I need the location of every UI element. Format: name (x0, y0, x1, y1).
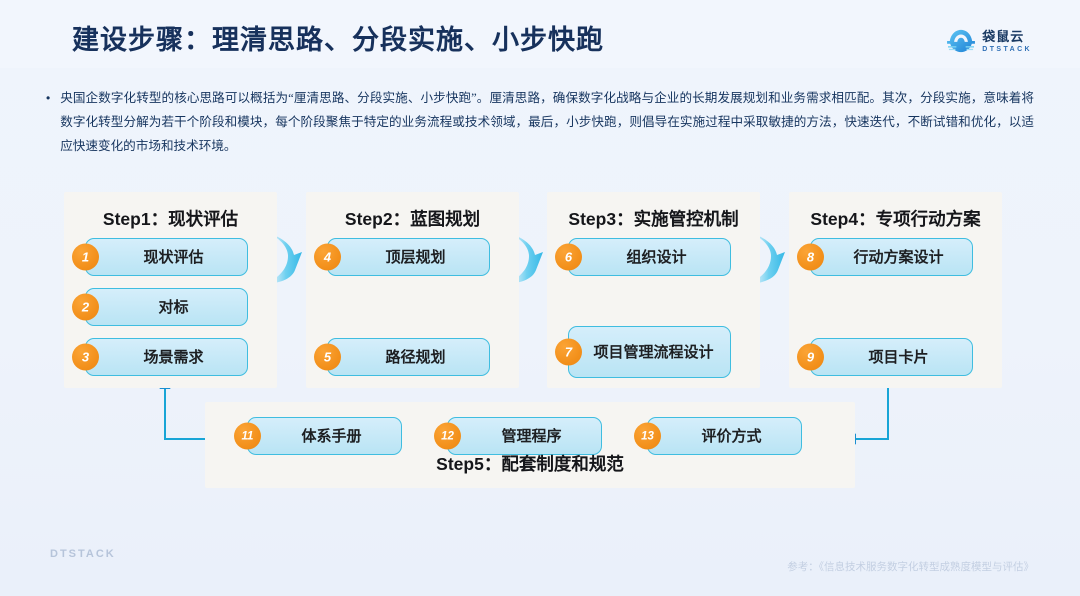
item-number-badge-4: 4 (314, 244, 341, 271)
bullet-icon: • (44, 86, 50, 158)
process-item-1[interactable]: 1 现状评估 (85, 238, 248, 276)
item-number-badge-9: 9 (797, 344, 824, 371)
item-number-badge-3: 3 (72, 344, 99, 371)
brand-logo: 袋鼠云 DTSTACK (947, 26, 1032, 56)
step-panel-step4: Step4：专项行动方案 8 行动方案设计 9 项目卡片 (789, 192, 1002, 388)
process-item-7[interactable]: 7 项目管理流程设计 (568, 326, 731, 378)
process-item-3[interactable]: 3 场景需求 (85, 338, 248, 376)
item-number-badge-2: 2 (72, 294, 99, 321)
logo-text-en: DTSTACK (982, 46, 1032, 53)
process-diagram: Step1：现状评估 1 现状评估 2 对标 3 场景需求 Step2：蓝图规划… (0, 176, 1080, 506)
item-label-5: 路径规划 (365, 348, 451, 367)
item-label-4: 顶层规划 (365, 248, 451, 267)
step-title-step3: Step3：实施管控机制 (547, 206, 760, 231)
process-item-9[interactable]: 9 项目卡片 (810, 338, 973, 376)
step-title-step1: Step1：现状评估 (64, 206, 277, 231)
process-item-12[interactable]: 12 管理程序 (447, 417, 602, 455)
logo-text: 袋鼠云 DTSTACK (982, 30, 1032, 53)
step-panel-step5: 11 体系手册 12 管理程序 13 评价方式 Step5：配套制度和规范 (205, 402, 855, 488)
process-item-2[interactable]: 2 对标 (85, 288, 248, 326)
logo-text-cn: 袋鼠云 (982, 30, 1032, 43)
item-number-badge-12: 12 (434, 423, 461, 450)
item-label-9: 项目卡片 (848, 348, 934, 367)
intro-text: 央国企数字化转型的核心思路可以概括为“厘清思路、分段实施、小步快跑”。厘清思路，… (60, 86, 1034, 158)
slide-header: 建设步骤：理清思路、分段实施、小步快跑 袋鼠云 DTSTACK (0, 0, 1080, 68)
slide-canvas: 建设步骤：理清思路、分段实施、小步快跑 袋鼠云 DTSTACK (0, 0, 1080, 596)
page-title: 建设步骤：理清思路、分段实施、小步快跑 (72, 18, 604, 57)
process-item-13[interactable]: 13 评价方式 (647, 417, 802, 455)
item-label-8: 行动方案设计 (833, 248, 949, 267)
step-panel-step1: Step1：现状评估 1 现状评估 2 对标 3 场景需求 (64, 192, 277, 388)
dtstack-kangaroo-logo-icon (947, 28, 975, 54)
item-label-2: 对标 (138, 298, 194, 317)
item-number-badge-8: 8 (797, 244, 824, 271)
item-label-11: 体系手册 (281, 427, 367, 446)
step-panel-step2: Step2：蓝图规划 4 顶层规划 5 路径规划 (306, 192, 519, 388)
item-label-7: 项目管理流程设计 (579, 343, 719, 362)
item-label-13: 评价方式 (681, 427, 767, 446)
step-panel-step3: Step3：实施管控机制 6 组织设计 7 项目管理流程设计 (547, 192, 760, 388)
step-title-step5: Step5：配套制度和规范 (205, 451, 855, 476)
item-number-badge-7: 7 (555, 339, 582, 366)
item-number-badge-6: 6 (555, 244, 582, 271)
item-number-badge-11: 11 (234, 423, 261, 450)
item-number-badge-13: 13 (634, 423, 661, 450)
footer-reference: 参考：《信息技术服务数字化转型成熟度模型与评估》 (787, 559, 1034, 574)
footer-brand: DTSTACK (50, 548, 116, 560)
process-item-5[interactable]: 5 路径规划 (327, 338, 490, 376)
item-label-12: 管理程序 (481, 427, 567, 446)
intro-paragraph: • 央国企数字化转型的核心思路可以概括为“厘清思路、分段实施、小步快跑”。厘清思… (44, 86, 1034, 158)
step-title-step2: Step2：蓝图规划 (306, 206, 519, 231)
item-number-badge-5: 5 (314, 344, 341, 371)
process-item-11[interactable]: 11 体系手册 (247, 417, 402, 455)
item-number-badge-1: 1 (72, 244, 99, 271)
step-title-step4: Step4：专项行动方案 (789, 206, 1002, 231)
process-item-8[interactable]: 8 行动方案设计 (810, 238, 973, 276)
process-item-4[interactable]: 4 顶层规划 (327, 238, 490, 276)
item-label-3: 场景需求 (123, 348, 209, 367)
item-label-6: 组织设计 (606, 248, 692, 267)
item-label-1: 现状评估 (123, 248, 209, 267)
process-item-6[interactable]: 6 组织设计 (568, 238, 731, 276)
